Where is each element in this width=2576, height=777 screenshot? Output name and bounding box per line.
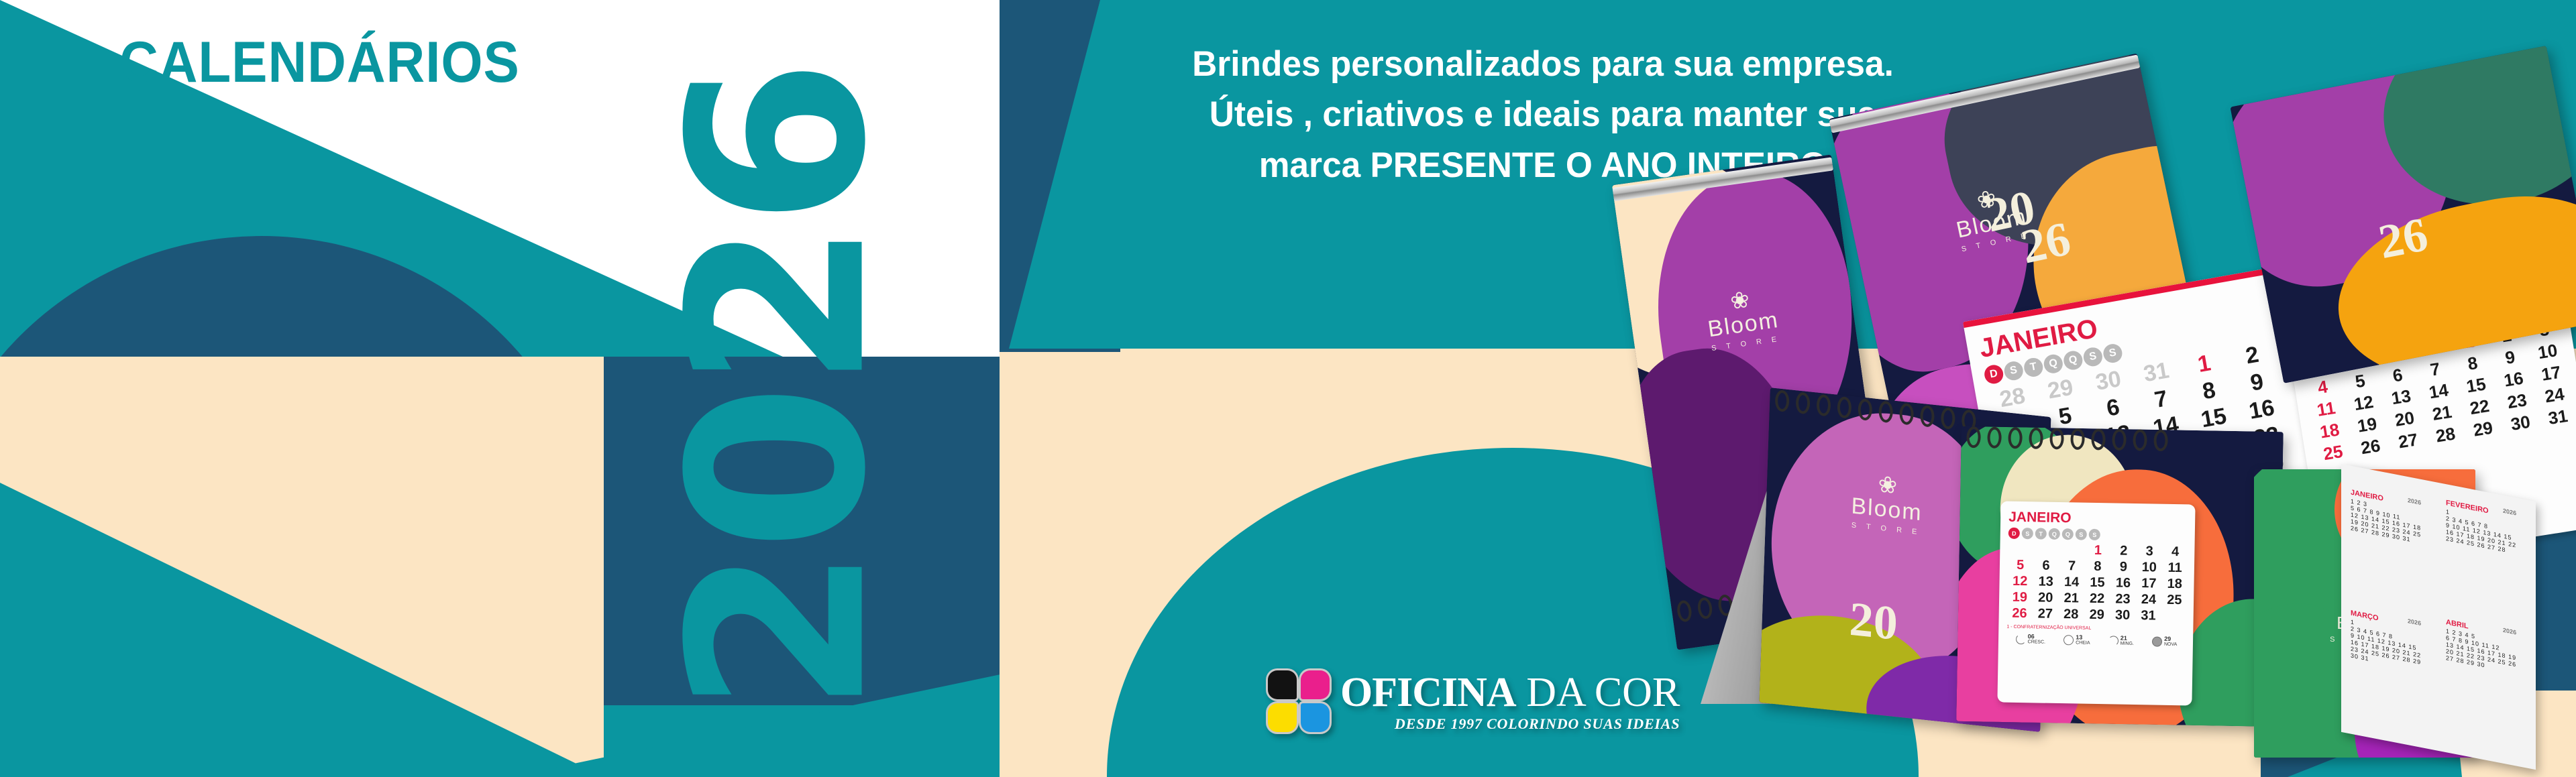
moon-label: NOVA bbox=[2164, 642, 2177, 647]
day-cell: 31 bbox=[2136, 608, 2161, 624]
day-cell: 3 bbox=[2137, 544, 2162, 560]
dow-t: T bbox=[2035, 528, 2047, 539]
mini-month-year: 2026 bbox=[2408, 497, 2421, 506]
day-cell: 27 bbox=[2033, 606, 2058, 622]
petal-cyan-icon bbox=[1301, 703, 1330, 732]
moon-label: CRESC. bbox=[2027, 640, 2045, 644]
wall-calendar-far-right: 26 bbox=[2230, 46, 2576, 383]
day-cell: 4 bbox=[2163, 544, 2188, 560]
days-grid: 1 2 3 4 5 6 7 8 9 10 11 12 13 14 15 16 bbox=[2007, 542, 2188, 625]
day-cell: 27 bbox=[2388, 428, 2428, 454]
day-cell: 2 bbox=[2111, 543, 2137, 559]
petal-black-icon bbox=[1268, 670, 1297, 699]
left-panel: CALENDÁRIOS 2026 bbox=[0, 0, 1000, 777]
day-cell: 26 bbox=[2351, 434, 2390, 460]
cmyk-flower-icon bbox=[1268, 670, 1330, 732]
day-cell: 30 bbox=[2501, 410, 2540, 436]
calendar-year: 26 bbox=[2374, 206, 2432, 270]
desk-calendar-sheet: JANEIRO D S T Q Q S S 1 2 3 4 bbox=[1997, 501, 2195, 705]
moon-phase: 29NOVA bbox=[2152, 636, 2178, 647]
dow-s3: S bbox=[2089, 529, 2100, 540]
petal-magenta-icon bbox=[1301, 670, 1330, 699]
day-cell: 23 bbox=[2110, 591, 2136, 607]
day-cell bbox=[2008, 542, 2033, 558]
mini-month: JANEIRO 2026 1 2 3 5 6 7 8 9 10 11 12 13… bbox=[2351, 486, 2421, 545]
day-cell: 12 bbox=[2007, 574, 2033, 590]
moon-label: MING. bbox=[2121, 642, 2134, 646]
day-cell: 30 bbox=[2110, 607, 2135, 623]
moon-day: 13 bbox=[2076, 634, 2082, 640]
moon-phase: 21MING. bbox=[2108, 635, 2135, 646]
day-cell: 22 bbox=[2084, 591, 2110, 607]
day-cell: 15 bbox=[2085, 575, 2110, 591]
moon-phase: 13CHEIA bbox=[2063, 634, 2090, 646]
day-cell: 1 bbox=[2085, 543, 2110, 559]
day-cell: 13 bbox=[2033, 574, 2059, 590]
dow-q2: Q bbox=[2062, 528, 2074, 540]
moon-label: CHEIA bbox=[2076, 640, 2090, 645]
day-cell: 7 bbox=[2059, 558, 2085, 575]
day-cell bbox=[2034, 542, 2059, 558]
dow-d: D bbox=[1983, 363, 2004, 385]
day-cell: 20 bbox=[2033, 590, 2058, 606]
year-badge: 2026 bbox=[624, 0, 932, 777]
page-title: CALENDÁRIOS bbox=[119, 29, 520, 96]
year-bottom: 26 bbox=[2374, 207, 2432, 269]
dow-t: T bbox=[2023, 357, 2044, 378]
day-cell: 16 bbox=[2110, 575, 2136, 591]
day-cell: 14 bbox=[2059, 575, 2084, 591]
dow-s1: S bbox=[2002, 360, 2024, 381]
day-cell: 18 bbox=[2162, 577, 2188, 593]
mini-month: MARÇO 2026 1 2 3 4 5 6 7 8 9 10 11 12 13… bbox=[2351, 607, 2421, 672]
dow-s2: S bbox=[2082, 346, 2104, 367]
day-cell: 29 bbox=[2084, 607, 2110, 623]
moon-day: 29 bbox=[2164, 636, 2171, 642]
day-cell: 28 bbox=[2426, 422, 2465, 448]
mini-month-year: 2026 bbox=[2503, 507, 2516, 517]
day-cell: 28 bbox=[2058, 607, 2084, 623]
moon-day: 06 bbox=[2028, 633, 2035, 640]
moon-day: 21 bbox=[2121, 635, 2127, 642]
mini-month-year: 2026 bbox=[2503, 627, 2516, 636]
mini-month: FEVEREIRO 2026 1 2 3 4 5 6 7 8 9 10 11 1… bbox=[2446, 496, 2516, 555]
dow-d: D bbox=[2008, 528, 2020, 539]
dow-q1: Q bbox=[2049, 528, 2060, 540]
petal-yellow-icon bbox=[1268, 703, 1297, 732]
logo-name-bold: OFICINA bbox=[1340, 670, 1516, 715]
day-cell bbox=[2059, 542, 2085, 558]
dow-s1: S bbox=[2022, 528, 2033, 539]
day-cell: 25 bbox=[2161, 593, 2187, 609]
calendar-year: 20 bbox=[1848, 591, 1898, 652]
day-cell: 24 bbox=[2136, 592, 2161, 608]
product-photos: ❀ Bloom S T O R E ❀ Bloom S T O bbox=[1610, 0, 2576, 777]
day-cell: 29 bbox=[2463, 416, 2503, 442]
mini-month: ABRIL 2026 1 2 3 4 5 6 7 8 9 10 11 12 13… bbox=[2446, 615, 2516, 674]
cube-calendar-face: JANEIRO 2026 1 2 3 5 6 7 8 9 10 11 12 13… bbox=[2341, 464, 2536, 770]
day-cell: 19 bbox=[2007, 590, 2033, 606]
day-cell: 9 bbox=[2110, 559, 2136, 575]
day-cell: 21 bbox=[2059, 591, 2084, 607]
day-cell: 17 bbox=[2136, 576, 2161, 592]
calendar-promo-banner: CALENDÁRIOS 2026 Brindes personalizados … bbox=[0, 0, 2576, 777]
year-text: 2026 bbox=[638, 64, 919, 714]
day-cell: 11 bbox=[2162, 560, 2188, 577]
day-cell: 8 bbox=[2085, 559, 2110, 575]
dow-header: D S T Q Q S S bbox=[2008, 528, 2188, 542]
day-cell: 5 bbox=[2008, 558, 2033, 574]
dow-s3: S bbox=[2102, 343, 2123, 364]
holiday-note: 1 - CONFRATERNIZAÇÃO UNIVERSAL bbox=[2006, 625, 2186, 633]
year-top: 20 bbox=[1848, 592, 1898, 650]
day-cell: 10 bbox=[2137, 560, 2162, 576]
dow-q1: Q bbox=[2043, 353, 2064, 375]
dow-q2: Q bbox=[2062, 349, 2084, 371]
moon-phases: 06CRESC. 13CHEIA 21MING. 29NOVA bbox=[2006, 634, 2186, 648]
day-cell bbox=[2161, 609, 2187, 625]
day-cell: 25 bbox=[2314, 440, 2353, 466]
mini-month-year: 2026 bbox=[2408, 617, 2421, 627]
day-cell: 31 bbox=[2538, 404, 2576, 430]
month-name: JANEIRO bbox=[2008, 510, 2188, 529]
day-cell: 6 bbox=[2033, 558, 2059, 574]
moon-phase: 06CRESC. bbox=[2015, 634, 2045, 645]
day-cell: 26 bbox=[2007, 606, 2033, 622]
dow-s2: S bbox=[2076, 528, 2087, 540]
